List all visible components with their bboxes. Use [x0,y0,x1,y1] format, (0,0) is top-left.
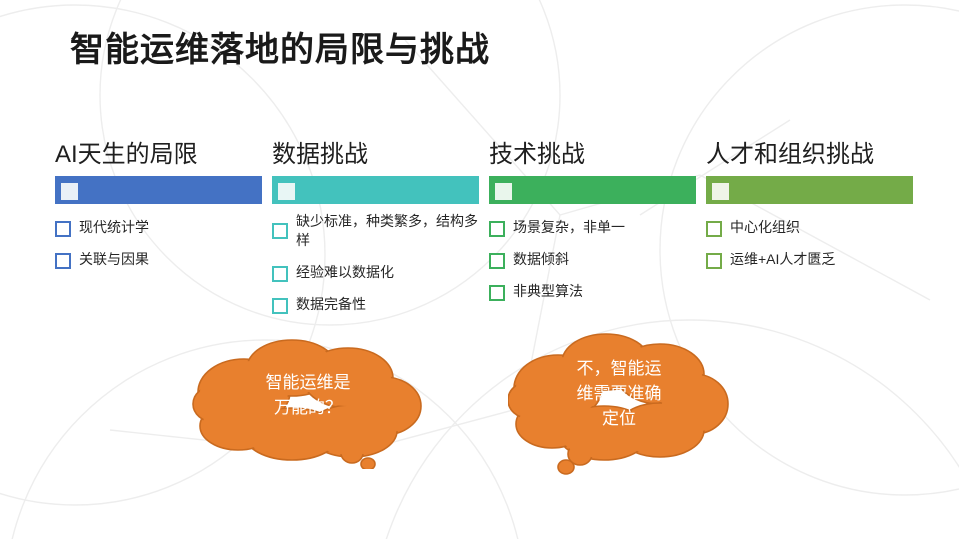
bullet-list: 场景复杂，非单一 数据倾斜 非典型算法 [489,218,696,301]
column-color-bar [272,176,479,204]
checkbox-icon [706,221,722,237]
checkbox-icon [272,298,288,314]
list-item[interactable]: 数据倾斜 [489,250,696,269]
column-header: 数据挑战 [272,140,479,170]
list-item-label: 运维+AI人才匮乏 [730,250,835,269]
bullet-list: 现代统计学 关联与因果 [55,218,262,269]
cloud-text: 智能运维是 万能的？ [192,370,424,420]
list-item-label: 缺少标准，种类繁多，结构多样 [296,212,479,250]
list-item[interactable]: 场景复杂，非单一 [489,218,696,237]
checkbox-icon [489,253,505,269]
column-bar-chip [495,183,512,200]
column-talent-org-challenges: 人才和组织挑战 中心化组织 运维+AI人才匮乏 [706,140,913,282]
bullet-list: 缺少标准，种类繁多，结构多样 经验难以数据化 数据完备性 [272,212,479,314]
list-item-label: 现代统计学 [79,218,149,237]
cloud-text: 不，智能运 维需要准确 定位 [508,356,730,431]
list-item[interactable]: 非典型算法 [489,282,696,301]
column-bar-chip [712,183,729,200]
list-item-label: 数据倾斜 [513,250,569,269]
checkbox-icon [55,253,71,269]
list-item-label: 关联与因果 [79,250,149,269]
column-ai-limits: AI天生的局限 现代统计学 关联与因果 [55,140,262,282]
bullet-list: 中心化组织 运维+AI人才匮乏 [706,218,913,269]
checkbox-icon [55,221,71,237]
column-tech-challenges: 技术挑战 场景复杂，非单一 数据倾斜 非典型算法 [489,140,696,314]
column-header: 技术挑战 [489,140,696,170]
list-item-label: 场景复杂，非单一 [513,218,625,237]
checkbox-icon [272,266,288,282]
checkbox-icon [489,221,505,237]
list-item[interactable]: 现代统计学 [55,218,262,237]
column-data-challenges: 数据挑战 缺少标准，种类繁多，结构多样 经验难以数据化 数据完备性 [272,140,479,327]
column-color-bar [489,176,696,204]
list-item-label: 中心化组织 [730,218,800,237]
question-cloud: 智能运维是 万能的？ [192,334,424,469]
answer-cloud: 不，智能运 维需要准确 定位 [508,330,730,475]
list-item[interactable]: 缺少标准，种类繁多，结构多样 [272,212,479,250]
column-header: 人才和组织挑战 [706,140,913,170]
list-item[interactable]: 中心化组织 [706,218,913,237]
checkbox-icon [272,223,288,239]
list-item[interactable]: 数据完备性 [272,295,479,314]
list-item[interactable]: 经验难以数据化 [272,263,479,282]
page-title: 智能运维落地的局限与挑战 [70,22,490,71]
list-item[interactable]: 关联与因果 [55,250,262,269]
list-item-label: 非典型算法 [513,282,583,301]
column-header: AI天生的局限 [55,140,262,170]
checkbox-icon [706,253,722,269]
column-bar-chip [61,183,78,200]
column-color-bar [55,176,262,204]
list-item-label: 数据完备性 [296,295,366,314]
column-bar-chip [278,183,295,200]
slide-canvas: 智能运维落地的局限与挑战 AI天生的局限 现代统计学 关联与因果 数据挑战 缺少 [0,0,959,539]
list-item-label: 经验难以数据化 [296,263,394,282]
column-color-bar [706,176,913,204]
list-item[interactable]: 运维+AI人才匮乏 [706,250,913,269]
checkbox-icon [489,285,505,301]
